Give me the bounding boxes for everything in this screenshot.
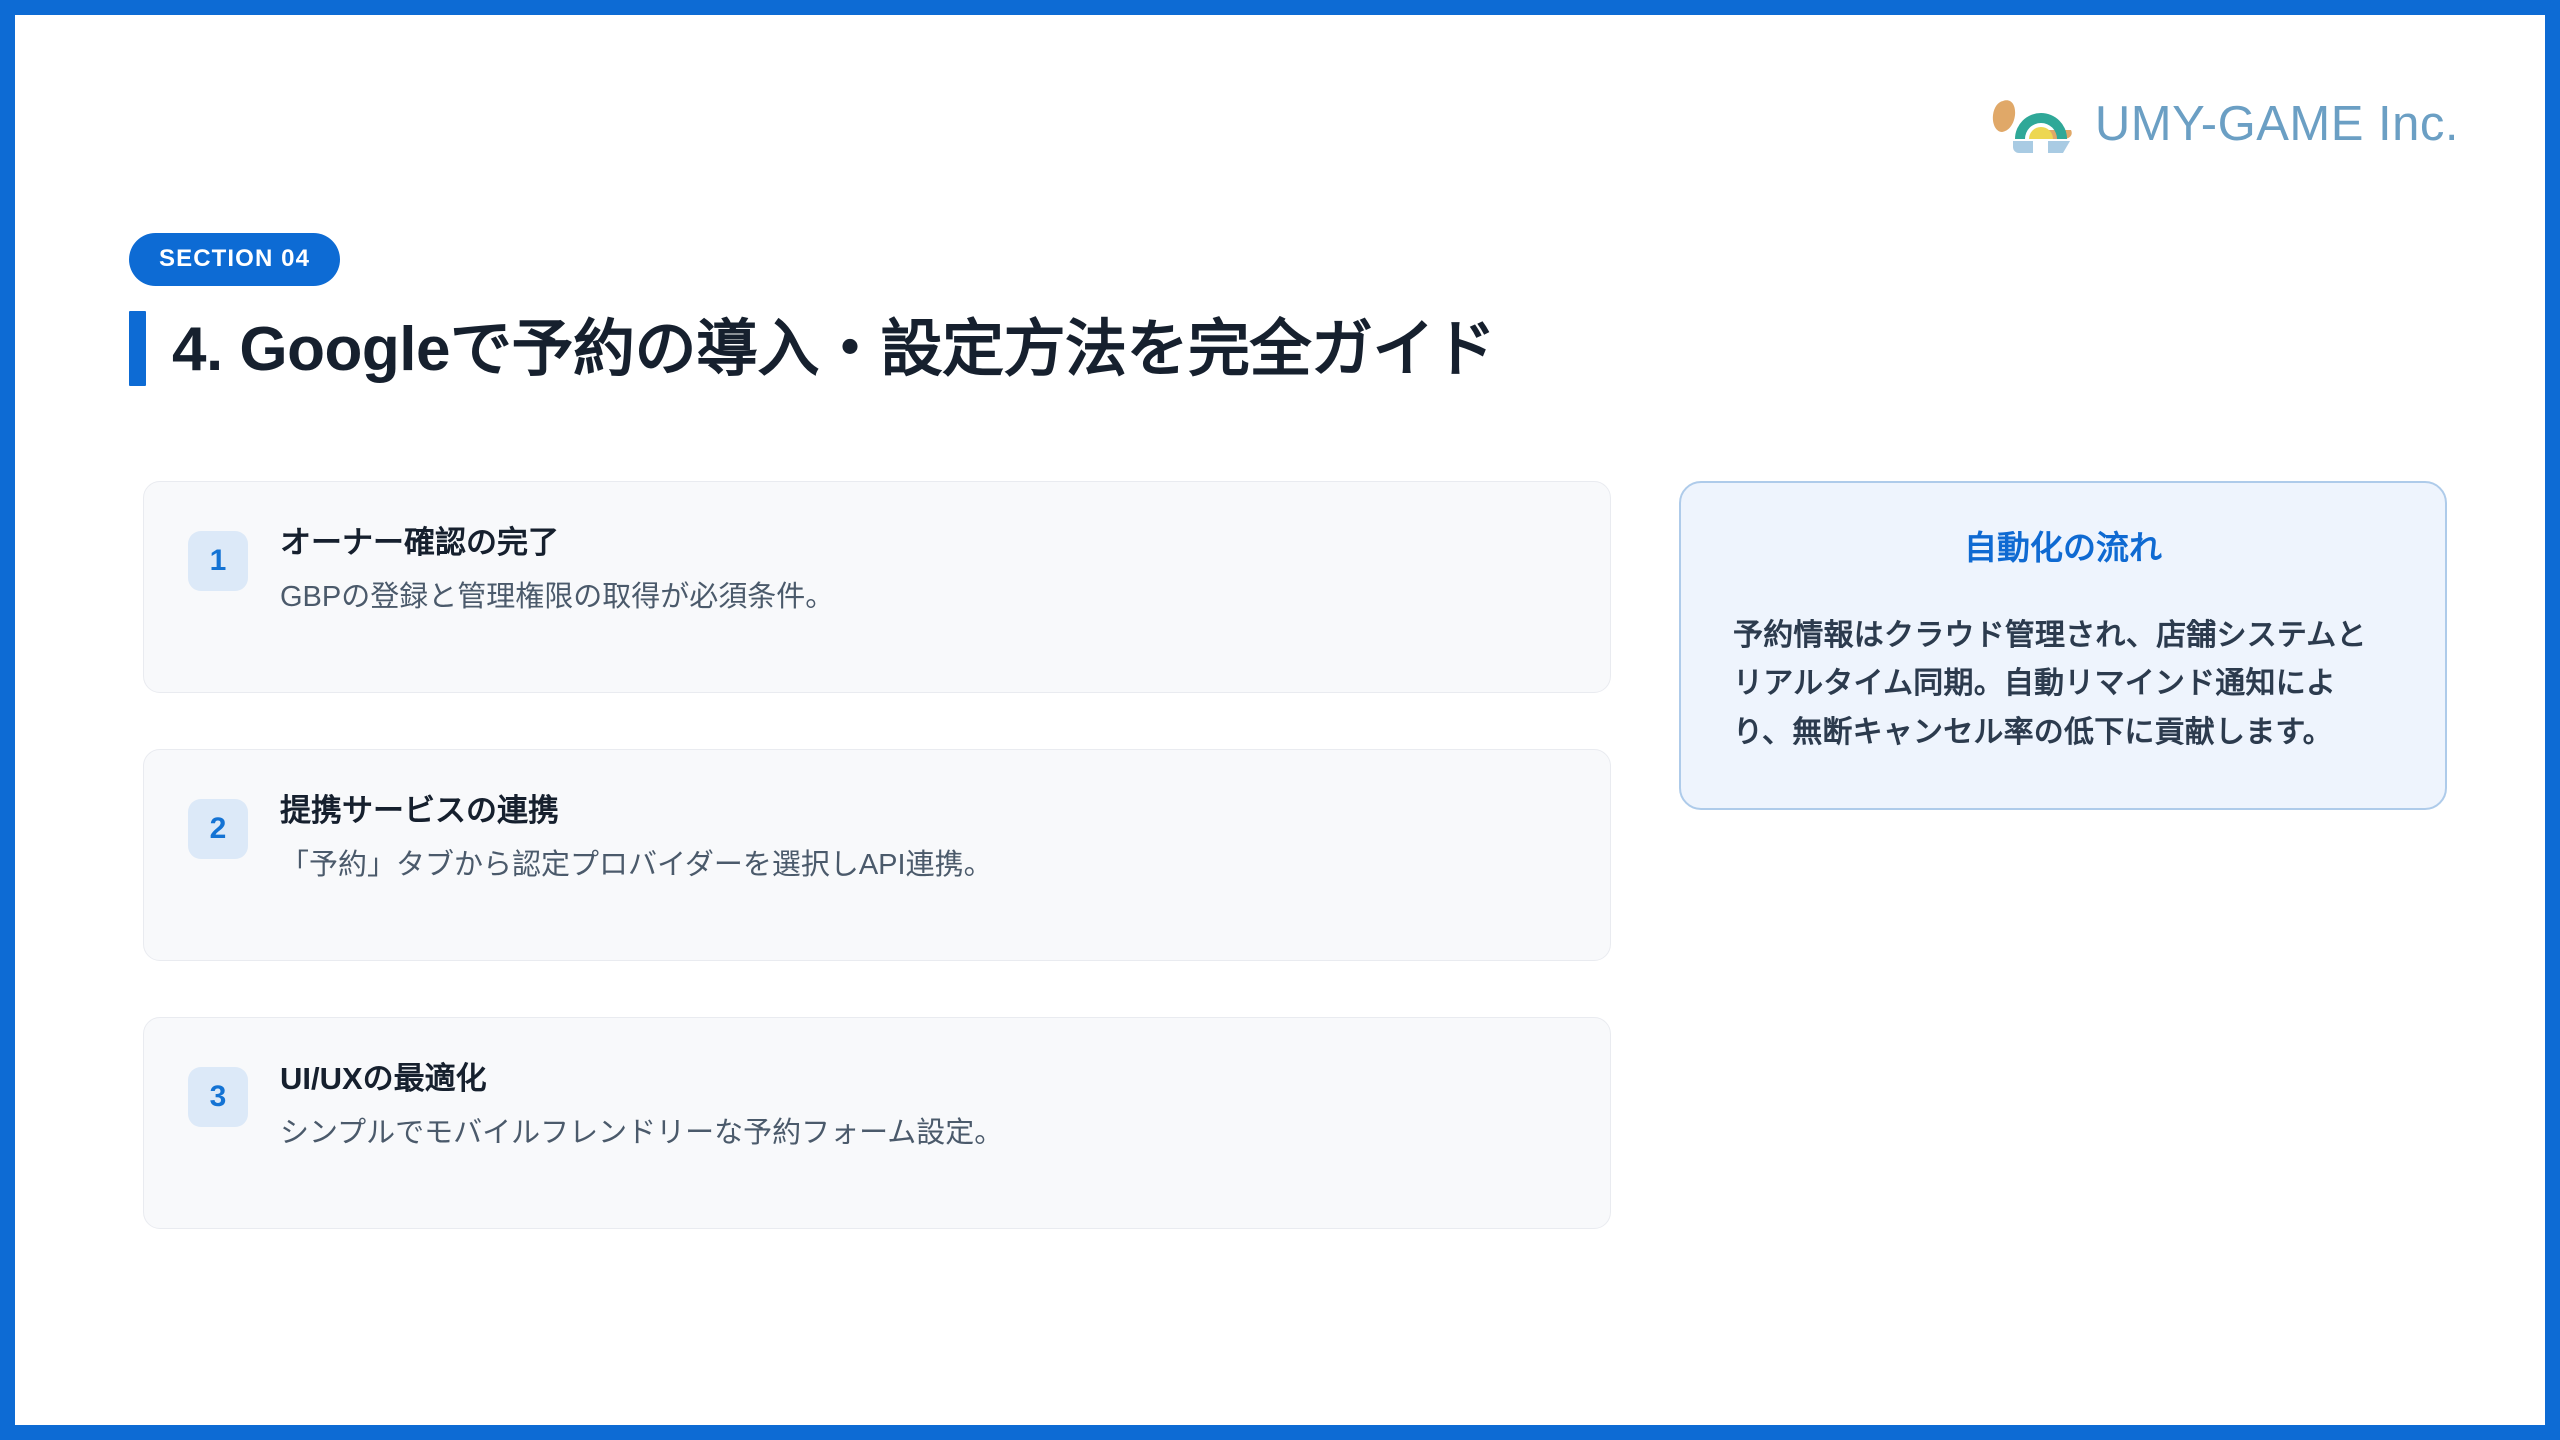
automation-flow-panel: 自動化の流れ 予約情報はクラウド管理され、店舗システムとリアルタイム同期。自動リ… — [1679, 481, 2447, 810]
panel-body-text: 予約情報はクラウド管理され、店舗システムとリアルタイム同期。自動リマインド通知に… — [1733, 612, 2393, 758]
slide-canvas: UMY-GAME Inc. SECTION 04 4. Googleで予約の導入… — [15, 15, 2545, 1425]
brand-logo: UMY-GAME Inc. — [1985, 93, 2459, 155]
brand-name: UMY-GAME Inc. — [2095, 100, 2459, 149]
section-badge: SECTION 04 — [129, 233, 340, 286]
step-content: オーナー確認の完了 GBPの登録と管理権限の取得が必須条件。 — [280, 518, 834, 618]
step-content: UI/UXの最適化 シンプルでモバイルフレンドリーな予約フォーム設定。 — [280, 1054, 1003, 1154]
slide-frame: UMY-GAME Inc. SECTION 04 4. Googleで予約の導入… — [0, 0, 2560, 1440]
step-card[interactable]: 1 オーナー確認の完了 GBPの登録と管理権限の取得が必須条件。 — [143, 481, 1611, 693]
step-number-badge: 3 — [188, 1067, 248, 1127]
steps-list: 1 オーナー確認の完了 GBPの登録と管理権限の取得が必須条件。 2 提携サービ… — [143, 481, 1611, 1229]
panel-title: 自動化の流れ — [1733, 527, 2393, 570]
step-description: GBPの登録と管理権限の取得が必須条件。 — [280, 576, 834, 618]
step-card[interactable]: 2 提携サービスの連携 「予約」タブから認定プロバイダーを選択しAPI連携。 — [143, 749, 1611, 961]
step-description: シンプルでモバイルフレンドリーな予約フォーム設定。 — [280, 1112, 1003, 1154]
page-heading: 4. Googleで予約の導入・設定方法を完全ガイド — [129, 311, 1495, 386]
step-content: 提携サービスの連携 「予約」タブから認定プロバイダーを選択しAPI連携。 — [280, 786, 993, 886]
page-title: 4. Googleで予約の導入・設定方法を完全ガイド — [172, 311, 1495, 386]
step-title: UI/UXの最適化 — [280, 1058, 1003, 1100]
step-title: 提携サービスの連携 — [280, 790, 993, 832]
step-title: オーナー確認の完了 — [280, 522, 834, 564]
step-description: 「予約」タブから認定プロバイダーを選択しAPI連携。 — [280, 844, 993, 886]
step-number-badge: 1 — [188, 531, 248, 591]
step-card[interactable]: 3 UI/UXの最適化 シンプルでモバイルフレンドリーな予約フォーム設定。 — [143, 1017, 1611, 1229]
heading-accent-bar — [129, 311, 146, 386]
step-number-badge: 2 — [188, 799, 248, 859]
umy-game-arc-logo-icon — [1985, 93, 2081, 155]
